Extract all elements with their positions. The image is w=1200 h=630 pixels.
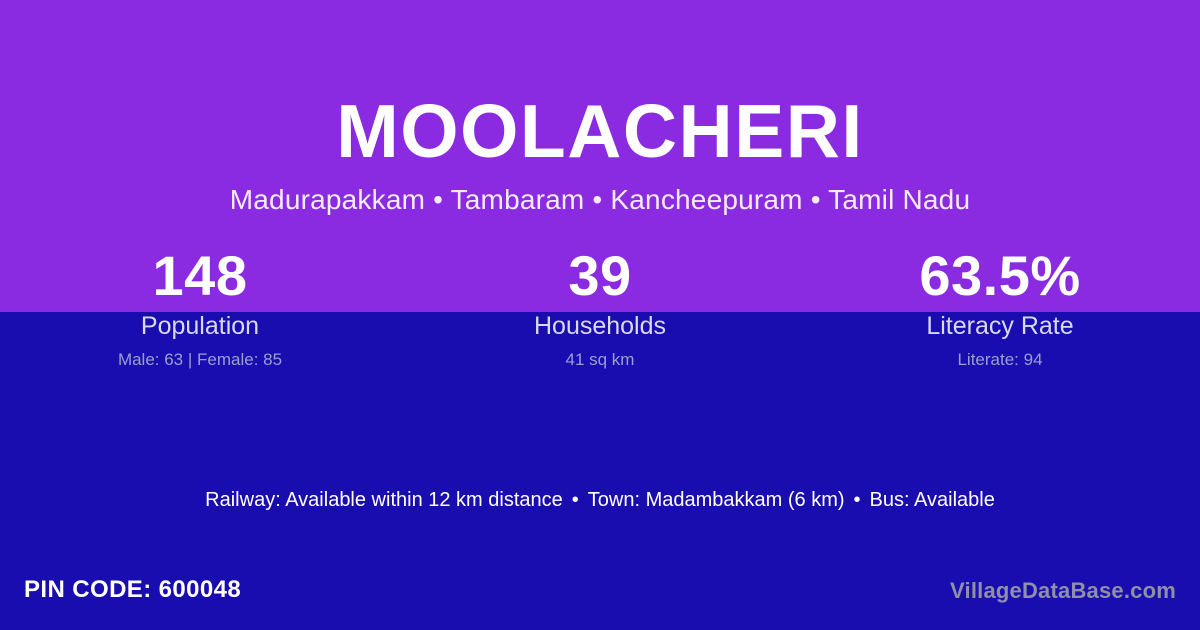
facility-town: Town: Madambakkam (6 km) <box>588 489 845 511</box>
stat-population: 148 Population Male: 63 | Female: 85 <box>0 243 400 372</box>
facility-railway: Railway: Available within 12 km distance <box>205 489 563 511</box>
facility-bus: Bus: Available <box>870 489 995 511</box>
stat-value-population: 148 <box>0 243 400 309</box>
stats-row: 148 Population Male: 63 | Female: 85 39 … <box>0 243 1200 372</box>
stat-label-literacy-rate: Literacy Rate <box>800 310 1200 342</box>
stat-literacy-rate: 63.5% Literacy Rate Literate: 94 <box>800 243 1200 372</box>
stat-value-literacy-rate: 63.5% <box>800 243 1200 309</box>
stat-label-population: Population <box>0 310 400 342</box>
stat-sub-population: Male: 63 | Female: 85 <box>0 348 400 372</box>
breadcrumb: Madurapakkam • Tambaram • Kancheepuram •… <box>0 183 1200 217</box>
pin-code-label: PIN CODE: 600048 <box>24 574 241 606</box>
facility-separator-2: • <box>845 486 870 514</box>
brand-watermark: VillageDataBase.com <box>950 576 1176 606</box>
stat-label-households: Households <box>400 310 800 342</box>
stat-sub-households: 41 sq km <box>400 348 800 372</box>
card-footer: PIN CODE: 600048 VillageDataBase.com <box>0 558 1200 630</box>
stat-sub-literacy-rate: Literate: 94 <box>800 348 1200 372</box>
village-info-card: MOOLACHERI Madurapakkam • Tambaram • Kan… <box>0 0 1200 630</box>
stat-households: 39 Households 41 sq km <box>400 243 800 372</box>
facilities-line: Railway: Available within 12 km distance… <box>0 486 1200 514</box>
page-title: MOOLACHERI <box>0 94 1200 169</box>
facility-separator-1: • <box>563 486 588 514</box>
stat-value-households: 39 <box>400 243 800 309</box>
